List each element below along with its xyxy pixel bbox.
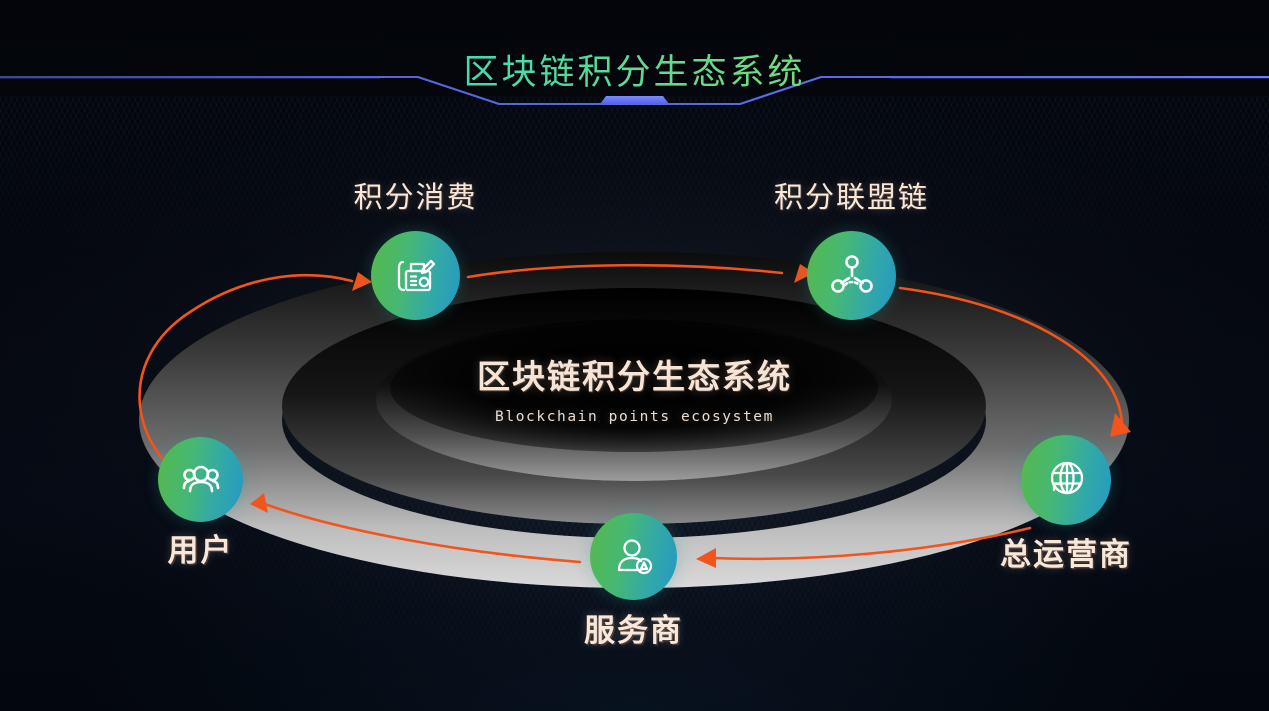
slide-canvas: 区块链积分生态系统 bbox=[0, 0, 1269, 711]
center-text-block: 区块链积分生态系统 Blockchain points ecosystem bbox=[0, 350, 1269, 425]
background-mesh-top bbox=[0, 96, 1269, 276]
arrow-consumption-to-chain bbox=[468, 265, 782, 277]
fax-pencil-icon bbox=[390, 250, 442, 302]
inner-disc bbox=[376, 319, 892, 481]
node-icon-circle[interactable] bbox=[158, 437, 243, 522]
node-icon-circle[interactable] bbox=[1021, 435, 1111, 525]
middle-ring bbox=[282, 288, 986, 524]
core-veil bbox=[390, 324, 878, 452]
node-general-operator[interactable]: 总运营商 bbox=[1021, 435, 1111, 525]
arrowhead-to-users bbox=[250, 493, 268, 513]
node-icon-circle[interactable] bbox=[590, 513, 677, 600]
node-icon-circle[interactable] bbox=[807, 231, 896, 320]
node-label: 积分消费 bbox=[286, 174, 546, 216]
node-icon-circle[interactable] bbox=[371, 231, 460, 320]
node-service-provider[interactable]: 服务商 bbox=[590, 513, 677, 600]
node-users[interactable]: 用户 bbox=[158, 437, 243, 522]
node-label: 服务商 bbox=[504, 605, 764, 650]
node-label: 总运营商 bbox=[936, 529, 1196, 574]
center-title: 区块链积分生态系统 bbox=[0, 350, 1269, 398]
arrowhead-to-operator bbox=[1110, 413, 1131, 437]
arrowhead-to-consumption bbox=[352, 272, 372, 291]
arrow-chain-to-operator bbox=[900, 288, 1122, 425]
globe-exchange-icon bbox=[1040, 454, 1092, 506]
arrowhead-to-service bbox=[696, 548, 716, 568]
people-group-icon bbox=[176, 455, 226, 505]
node-label: 用户 bbox=[71, 525, 331, 570]
node-points-alliance-chain[interactable]: 积分联盟链 bbox=[807, 231, 896, 320]
center-subtitle: Blockchain points ecosystem bbox=[0, 409, 1269, 425]
person-badge-icon bbox=[609, 532, 659, 582]
page-title: 区块链积分生态系统 bbox=[0, 44, 1269, 95]
network-nodes-icon bbox=[827, 251, 877, 301]
node-points-consumption[interactable]: 积分消费 bbox=[371, 231, 460, 320]
node-label: 积分联盟链 bbox=[722, 174, 982, 216]
